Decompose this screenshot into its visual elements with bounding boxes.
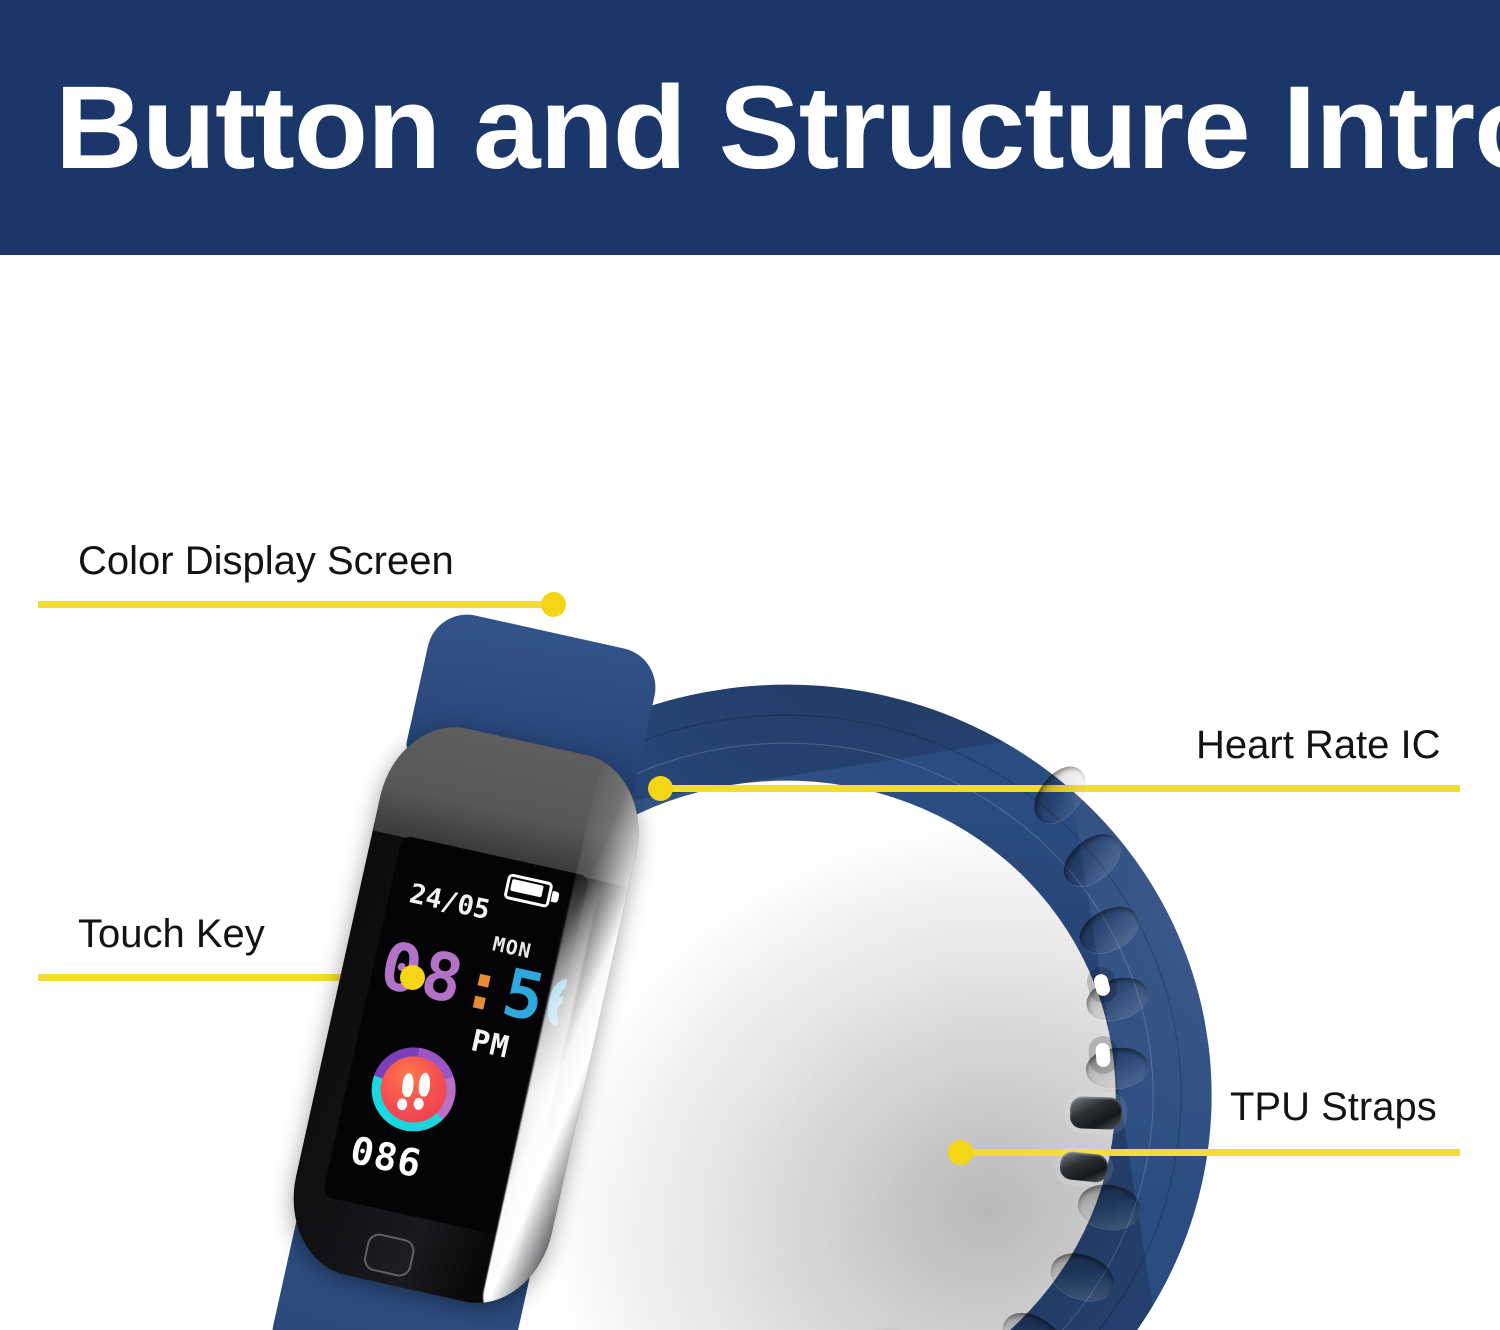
fitness-tracker-device: 24/05 MON 08:56 PM (0, 255, 1500, 1330)
buckle-pin (1069, 1096, 1122, 1130)
buckle-pin (1059, 1151, 1110, 1184)
callout-label-tpu-straps: TPU Straps (1230, 1083, 1437, 1131)
screen-date: 24/05 (407, 878, 493, 926)
footsteps-ring-icon (364, 1039, 464, 1139)
callout-line-tpu-straps (960, 1149, 1460, 1156)
callout-dot-tpu-straps (948, 1140, 973, 1165)
strap-hole (1095, 1043, 1111, 1068)
screen-step-count: 086 (346, 1128, 425, 1186)
callout-dot-color-display-screen (541, 592, 566, 617)
callout-dot-heart-rate-ic (648, 776, 673, 801)
callout-label-heart-rate-ic: Heart Rate IC (1196, 721, 1441, 769)
callout-dot-touch-key (400, 965, 425, 990)
callout-label-color-display-screen: Color Display Screen (78, 537, 454, 585)
page-title: Button and Structure Introduction (55, 58, 1500, 198)
product-illustration: 24/05 MON 08:56 PM (0, 255, 1500, 1330)
battery-icon (503, 873, 564, 912)
callout-label-touch-key: Touch Key (78, 910, 265, 958)
infographic-canvas: Button and Structure Introduction (0, 0, 1500, 1330)
touch-key-icon[interactable] (362, 1231, 417, 1278)
watch-head-module: 24/05 MON 08:56 PM (278, 713, 655, 1316)
callout-line-color-display-screen (38, 601, 556, 608)
header-band: Button and Structure Introduction (0, 0, 1500, 255)
time-meridiem: PM (468, 1023, 513, 1065)
watch-body: 24/05 MON 08:56 PM (278, 713, 655, 1316)
